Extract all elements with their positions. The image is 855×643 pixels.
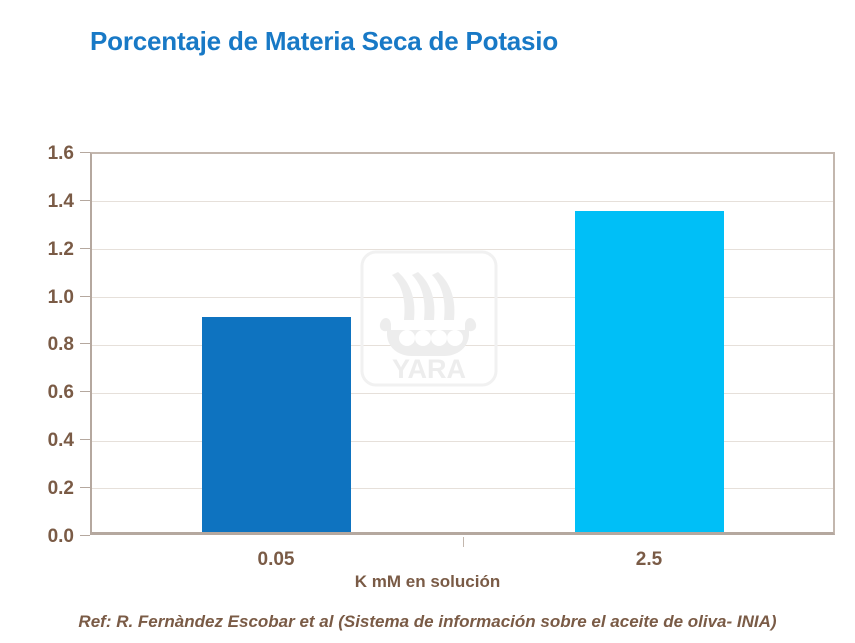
x-axis-title: K mM en solución [0,572,855,592]
x-tick-mark [463,537,464,547]
page-title: Porcentaje de Materia Seca de Potasio [90,26,558,57]
y-tick-mark [80,248,90,249]
y-tick-mark [80,343,90,344]
reference-caption: Ref: R. Fernàndez Escobar et al (Sistema… [0,612,855,632]
viking-ship-icon: YARA [360,250,498,387]
y-tick-mark [80,391,90,392]
y-tick-label: 0.4 [0,430,74,452]
y-tick-mark [80,439,90,440]
y-axis: 1.6 1.4 1.2 1.0 0.8 0.6 0.4 0.2 0.0 [0,0,78,643]
y-tick-label: 0.2 [0,478,74,500]
y-tick-mark [80,487,90,488]
y-tick-mark [80,535,90,536]
bar-category-0 [202,317,351,532]
y-tick-mark [80,296,90,297]
y-tick-label: 0.0 [0,526,74,548]
y-tick-label: 1.4 [0,191,74,213]
x-tick-label-0: 0.05 [200,549,352,571]
y-tick-label: 1.6 [0,143,74,165]
yara-watermark-logo: YARA [360,250,498,387]
slide-canvas: Porcentaje de Materia Seca de Potasio 1.… [0,0,855,643]
x-tick-label-1: 2.5 [573,549,725,571]
gridline [92,201,833,202]
plot-area: YARA [90,152,835,535]
y-tick-label: 0.8 [0,334,74,356]
y-tick-label: 0.6 [0,382,74,404]
y-tick-label: 1.2 [0,239,74,261]
y-tick-mark [80,152,90,153]
bar-category-1 [575,211,724,532]
y-tick-label: 1.0 [0,287,74,309]
yara-wordmark: YARA [392,354,466,384]
y-tick-mark [80,200,90,201]
